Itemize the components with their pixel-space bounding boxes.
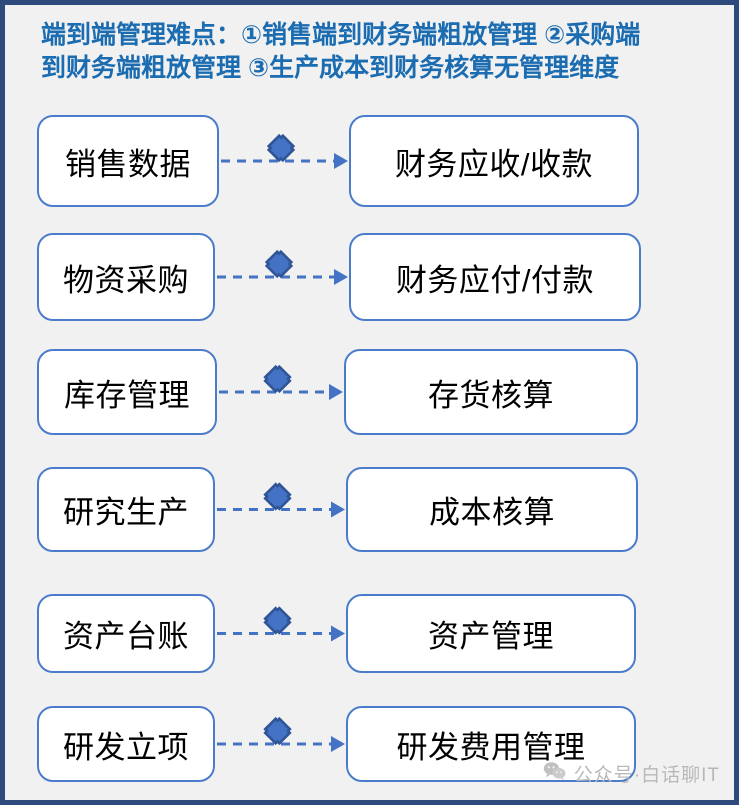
- cross-icon: [265, 719, 290, 744]
- connector-procurement: [215, 233, 349, 321]
- source-node-label: 物资采购: [63, 255, 189, 300]
- target-node-label: 成本核算: [429, 487, 555, 532]
- arrow-right-icon: [217, 269, 348, 285]
- target-node-label: 财务应付/付款: [396, 255, 594, 300]
- source-node-sales[interactable]: 销售数据: [37, 115, 219, 207]
- wechat-icon: [543, 761, 567, 787]
- target-node-label: 资产管理: [428, 611, 554, 656]
- target-node-label: 存货核算: [428, 370, 554, 415]
- source-node-label: 库存管理: [64, 370, 190, 415]
- cross-icon: [265, 484, 290, 509]
- cross-icon: [265, 608, 290, 633]
- cross-icon: [265, 367, 290, 392]
- target-node-assets[interactable]: 资产管理: [346, 594, 636, 673]
- flow-row: 库存管理存货核算: [5, 349, 734, 435]
- connector-production: [215, 467, 346, 552]
- connector-inventory: [217, 349, 344, 435]
- arrow-right-icon: [217, 736, 345, 752]
- source-node-label: 资产台账: [63, 611, 189, 656]
- connector-sales: [219, 115, 349, 207]
- source-node-assets[interactable]: 资产台账: [37, 594, 215, 673]
- source-node-procurement[interactable]: 物资采购: [37, 233, 215, 321]
- target-node-inventory[interactable]: 存货核算: [344, 349, 638, 435]
- diagram-canvas: 端到端管理难点：①销售端到财务端粗放管理 ②采购端 到财务端粗放管理 ③生产成本…: [0, 0, 739, 805]
- source-node-rnd[interactable]: 研发立项: [37, 706, 215, 782]
- arrow-right-icon: [219, 384, 343, 400]
- flow-row: 销售数据财务应收/收款: [5, 115, 734, 207]
- watermark-label: 公众号·白话聊IT: [574, 760, 720, 787]
- watermark: 公众号·白话聊IT: [543, 760, 720, 787]
- arrow-right-icon: [217, 502, 345, 518]
- source-node-inventory[interactable]: 库存管理: [37, 349, 217, 435]
- target-node-label: 财务应收/收款: [395, 139, 593, 184]
- page-title: 端到端管理难点：①销售端到财务端粗放管理 ②采购端 到财务端粗放管理 ③生产成本…: [41, 19, 701, 85]
- source-node-label: 研发立项: [63, 722, 189, 767]
- connector-assets: [215, 594, 346, 673]
- source-node-production[interactable]: 研究生产: [37, 467, 215, 552]
- arrow-right-icon: [221, 153, 348, 169]
- target-node-production[interactable]: 成本核算: [346, 467, 638, 552]
- cross-icon: [269, 136, 294, 161]
- arrow-right-icon: [217, 626, 345, 642]
- flow-row: 物资采购财务应付/付款: [5, 233, 734, 321]
- target-node-procurement[interactable]: 财务应付/付款: [349, 233, 641, 321]
- flow-row: 资产台账资产管理: [5, 594, 734, 673]
- flow-row: 研究生产成本核算: [5, 467, 734, 552]
- target-node-sales[interactable]: 财务应收/收款: [349, 115, 639, 207]
- cross-icon: [267, 252, 292, 277]
- connector-rnd: [215, 706, 346, 782]
- source-node-label: 销售数据: [65, 139, 191, 184]
- source-node-label: 研究生产: [63, 487, 189, 532]
